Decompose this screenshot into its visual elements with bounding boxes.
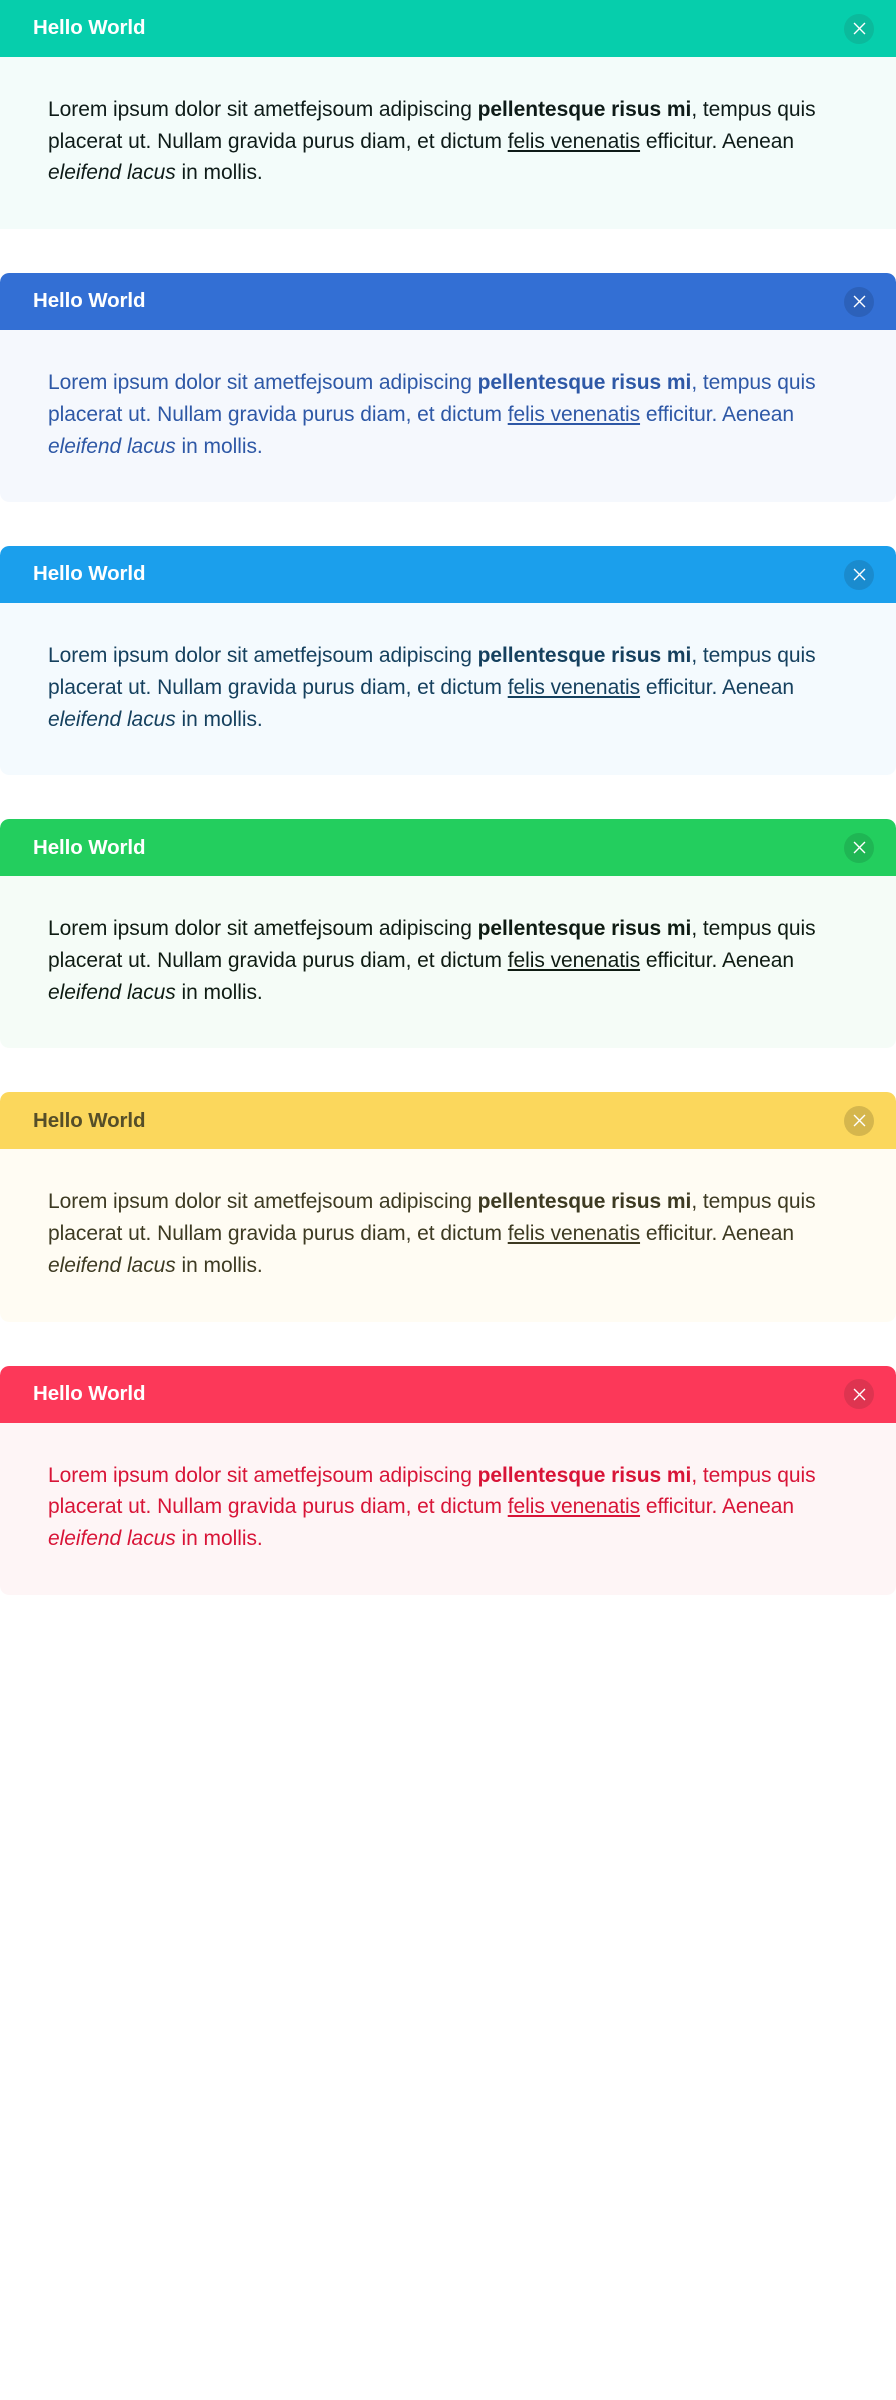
text-after-link: efficitur. Aenean: [640, 403, 794, 426]
text-after-link: efficitur. Aenean: [640, 949, 794, 972]
alert-card-title: Hello World: [33, 1384, 145, 1405]
text-bold: pellentesque risus mi: [478, 1464, 692, 1487]
text-lead: Lorem ipsum dolor sit ametfejsoum adipis…: [48, 98, 478, 121]
alert-card-body-info: Lorem ipsum dolor sit ametfejsoum adipis…: [0, 603, 896, 775]
alert-card-list: Hello World Lorem ipsum dolor sit ametfe…: [0, 0, 896, 1595]
text-after-link: efficitur. Aenean: [640, 1222, 794, 1245]
text-tail: in mollis.: [176, 1527, 263, 1550]
alert-card-text: Lorem ipsum dolor sit ametfejsoum adipis…: [48, 1460, 851, 1555]
close-button-danger[interactable]: [844, 1379, 874, 1409]
text-italic: eleifend lacus: [48, 435, 176, 458]
text-bold: pellentesque risus mi: [478, 371, 692, 394]
text-after-link: efficitur. Aenean: [640, 1495, 794, 1518]
felis-venenatis-link[interactable]: felis venenatis: [508, 130, 640, 153]
alert-card-text: Lorem ipsum dolor sit ametfejsoum adipis…: [48, 640, 851, 735]
alert-card-body-success: Lorem ipsum dolor sit ametfejsoum adipis…: [0, 876, 896, 1048]
text-italic: eleifend lacus: [48, 161, 176, 184]
close-button-teal[interactable]: [844, 14, 874, 44]
alert-card-body-primary: Lorem ipsum dolor sit ametfejsoum adipis…: [0, 330, 896, 502]
text-lead: Lorem ipsum dolor sit ametfejsoum adipis…: [48, 1190, 478, 1213]
alert-card-header-primary: Hello World: [0, 273, 896, 330]
alert-card-header-danger: Hello World: [0, 1366, 896, 1423]
alert-card-body-warning: Lorem ipsum dolor sit ametfejsoum adipis…: [0, 1149, 896, 1321]
alert-card-title: Hello World: [33, 18, 145, 39]
alert-card-body-teal: Lorem ipsum dolor sit ametfejsoum adipis…: [0, 57, 896, 229]
text-italic: eleifend lacus: [48, 708, 176, 731]
alert-card-text: Lorem ipsum dolor sit ametfejsoum adipis…: [48, 367, 851, 462]
alert-card-body-danger: Lorem ipsum dolor sit ametfejsoum adipis…: [0, 1423, 896, 1595]
alert-card-text: Lorem ipsum dolor sit ametfejsoum adipis…: [48, 1186, 851, 1281]
text-tail: in mollis.: [176, 435, 263, 458]
text-bold: pellentesque risus mi: [478, 98, 692, 121]
text-lead: Lorem ipsum dolor sit ametfejsoum adipis…: [48, 371, 478, 394]
text-after-link: efficitur. Aenean: [640, 676, 794, 699]
alert-card-teal: Hello World Lorem ipsum dolor sit ametfe…: [0, 0, 896, 229]
close-button-info[interactable]: [844, 560, 874, 590]
text-tail: in mollis.: [176, 981, 263, 1004]
text-italic: eleifend lacus: [48, 1527, 176, 1550]
alert-card-title: Hello World: [33, 838, 145, 859]
felis-venenatis-link[interactable]: felis venenatis: [508, 676, 640, 699]
alert-card-header-info: Hello World: [0, 546, 896, 603]
alert-card-text: Lorem ipsum dolor sit ametfejsoum adipis…: [48, 913, 851, 1008]
text-bold: pellentesque risus mi: [478, 1190, 692, 1213]
alert-card-title: Hello World: [33, 1111, 145, 1132]
alert-card-title: Hello World: [33, 291, 145, 312]
close-icon: [853, 841, 866, 854]
close-icon: [853, 295, 866, 308]
close-icon: [853, 1388, 866, 1401]
felis-venenatis-link[interactable]: felis venenatis: [508, 949, 640, 972]
alert-card-text: Lorem ipsum dolor sit ametfejsoum adipis…: [48, 94, 851, 189]
close-icon: [853, 1114, 866, 1127]
alert-card-title: Hello World: [33, 564, 145, 585]
text-tail: in mollis.: [176, 1254, 263, 1277]
close-button-primary[interactable]: [844, 287, 874, 317]
alert-card-header-warning: Hello World: [0, 1092, 896, 1149]
felis-venenatis-link[interactable]: felis venenatis: [508, 403, 640, 426]
text-italic: eleifend lacus: [48, 981, 176, 1004]
alert-card-danger: Hello World Lorem ipsum dolor sit ametfe…: [0, 1366, 896, 1595]
alert-card-primary: Hello World Lorem ipsum dolor sit ametfe…: [0, 273, 896, 502]
alert-card-success: Hello World Lorem ipsum dolor sit ametfe…: [0, 819, 896, 1048]
close-icon: [853, 22, 866, 35]
close-icon: [853, 568, 866, 581]
alert-card-info: Hello World Lorem ipsum dolor sit ametfe…: [0, 546, 896, 775]
felis-venenatis-link[interactable]: felis venenatis: [508, 1495, 640, 1518]
text-italic: eleifend lacus: [48, 1254, 176, 1277]
text-tail: in mollis.: [176, 708, 263, 731]
alert-card-warning: Hello World Lorem ipsum dolor sit ametfe…: [0, 1092, 896, 1321]
close-button-success[interactable]: [844, 833, 874, 863]
alert-card-header-success: Hello World: [0, 819, 896, 876]
text-lead: Lorem ipsum dolor sit ametfejsoum adipis…: [48, 917, 478, 940]
text-lead: Lorem ipsum dolor sit ametfejsoum adipis…: [48, 644, 478, 667]
text-lead: Lorem ipsum dolor sit ametfejsoum adipis…: [48, 1464, 478, 1487]
text-bold: pellentesque risus mi: [478, 644, 692, 667]
alert-card-header-teal: Hello World: [0, 0, 896, 57]
text-bold: pellentesque risus mi: [478, 917, 692, 940]
felis-venenatis-link[interactable]: felis venenatis: [508, 1222, 640, 1245]
text-after-link: efficitur. Aenean: [640, 130, 794, 153]
close-button-warning[interactable]: [844, 1106, 874, 1136]
text-tail: in mollis.: [176, 161, 263, 184]
